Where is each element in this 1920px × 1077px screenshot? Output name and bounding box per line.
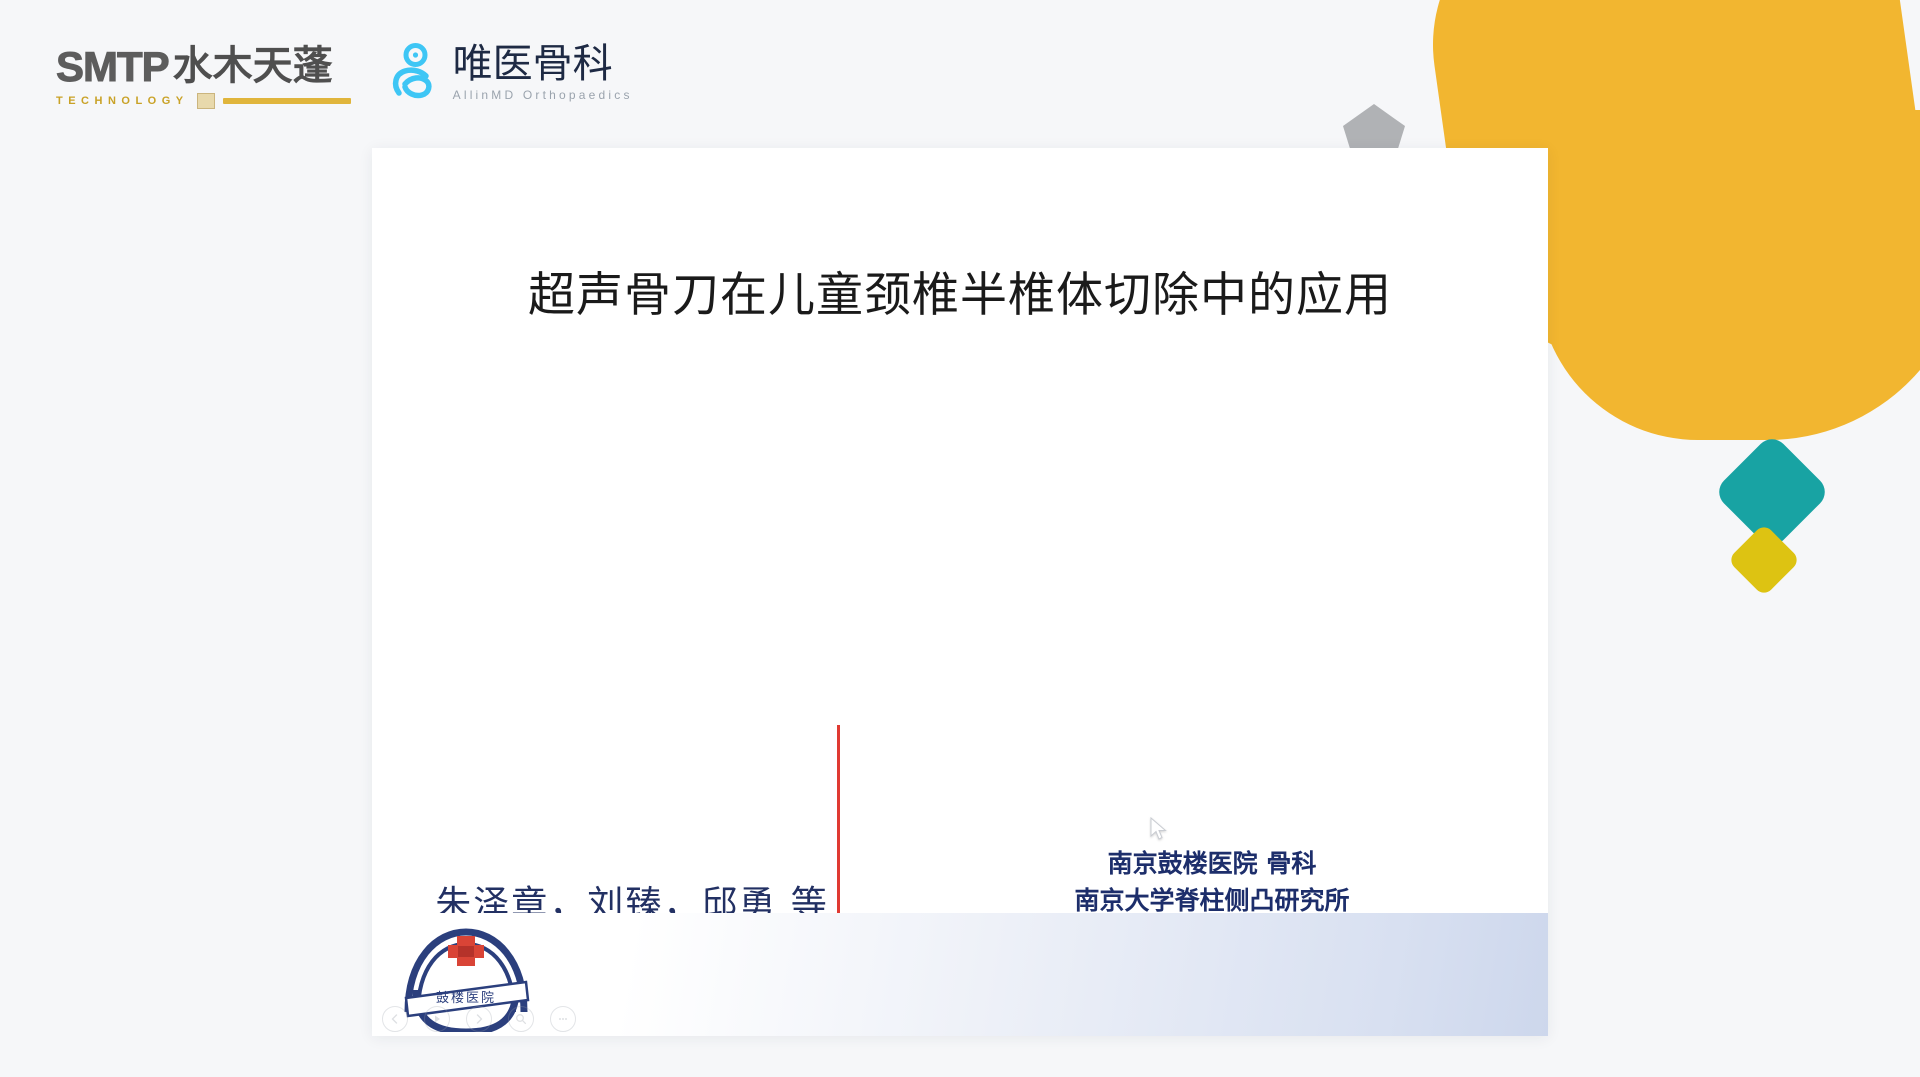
allinmd-logo: 唯医骨科 AllinMD Orthopaedics [385,43,633,106]
more-options-button[interactable] [550,1006,576,1032]
next-slide-button[interactable] [466,1006,492,1032]
smtp-chinese-name: 水木天蓬 [173,33,333,91]
previous-slide-button[interactable] [382,1006,408,1032]
screen: SMTP 水木天蓬 TECHNOLOGY 唯 [0,0,1920,1077]
yellow-diamond-decoration [1727,523,1801,597]
teal-diamond-decoration [1713,433,1832,552]
yellow-blob-decoration-2 [1538,110,1920,440]
play-button[interactable] [424,1006,450,1032]
slide-title: 超声骨刀在儿童颈椎半椎体切除中的应用 [372,256,1548,337]
slide-player-controls[interactable] [382,1006,576,1032]
allinmd-person-mark-icon [385,43,441,101]
allinmd-chinese-name: 唯医骨科 [453,43,633,85]
smtp-badge-icon [197,93,215,109]
brand-bar: SMTP 水木天蓬 TECHNOLOGY 唯 [0,0,1920,148]
mouse-cursor [1148,816,1170,842]
allinmd-english-name: AllinMD Orthopaedics [453,88,633,102]
svg-text:鼓楼医院: 鼓楼医院 [436,991,496,1006]
smtp-wordmark: SMTP [56,43,169,91]
affiliation-line-1: 南京鼓楼医院 骨科 [932,845,1492,882]
smtp-logo: SMTP 水木天蓬 TECHNOLOGY [56,33,351,115]
smtp-gold-rule [223,98,351,104]
slide-affiliation: 南京鼓楼医院 骨科 南京大学脊柱侧凸研究所 [932,845,1492,919]
zoom-in-button[interactable] [508,1006,534,1032]
presentation-slide[interactable]: 超声骨刀在儿童颈椎半椎体切除中的应用 朱泽章，刘臻，邱勇 等 南京鼓楼医院 骨科… [372,148,1548,1036]
smtp-tagline: TECHNOLOGY [56,95,189,107]
